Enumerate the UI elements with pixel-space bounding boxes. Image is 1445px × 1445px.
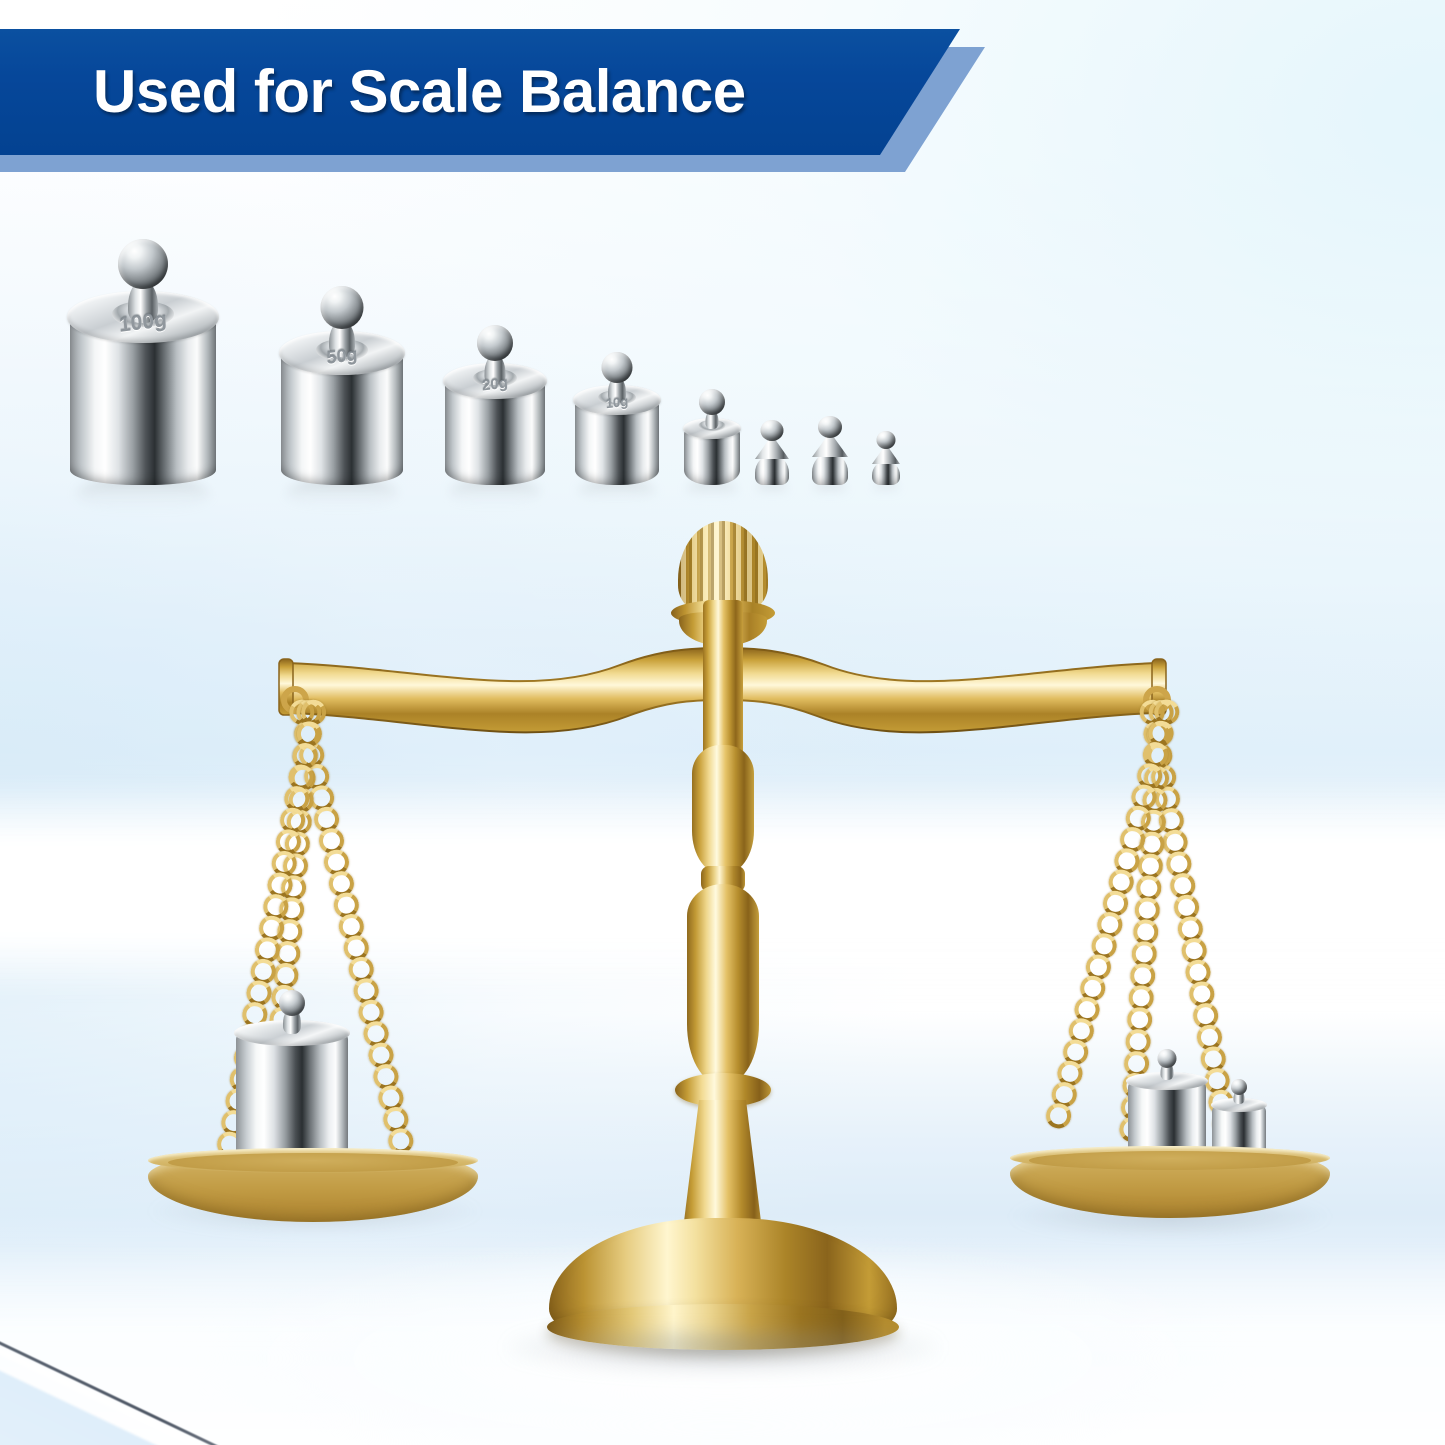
column-bulge-upper bbox=[692, 745, 754, 875]
right-pan bbox=[1010, 1146, 1330, 1218]
right-pan-inner bbox=[1029, 1151, 1311, 1170]
product-image-canvas: Used for Scale Balance 100g 50g bbox=[0, 0, 1445, 1445]
pan-weight-left bbox=[236, 998, 348, 1158]
pan-weight-ball bbox=[1158, 1049, 1177, 1068]
base-shadow bbox=[508, 1330, 938, 1374]
left-pan bbox=[148, 1148, 478, 1222]
beam-left-arm bbox=[287, 648, 722, 732]
beam-right-arm bbox=[723, 648, 1158, 732]
column-bulge-lower bbox=[687, 884, 759, 1084]
pan-weight-body bbox=[236, 1034, 348, 1158]
balance-scale bbox=[0, 0, 1445, 1445]
pan-weight-ball bbox=[1231, 1079, 1247, 1095]
pan-weight-ball bbox=[279, 990, 305, 1016]
